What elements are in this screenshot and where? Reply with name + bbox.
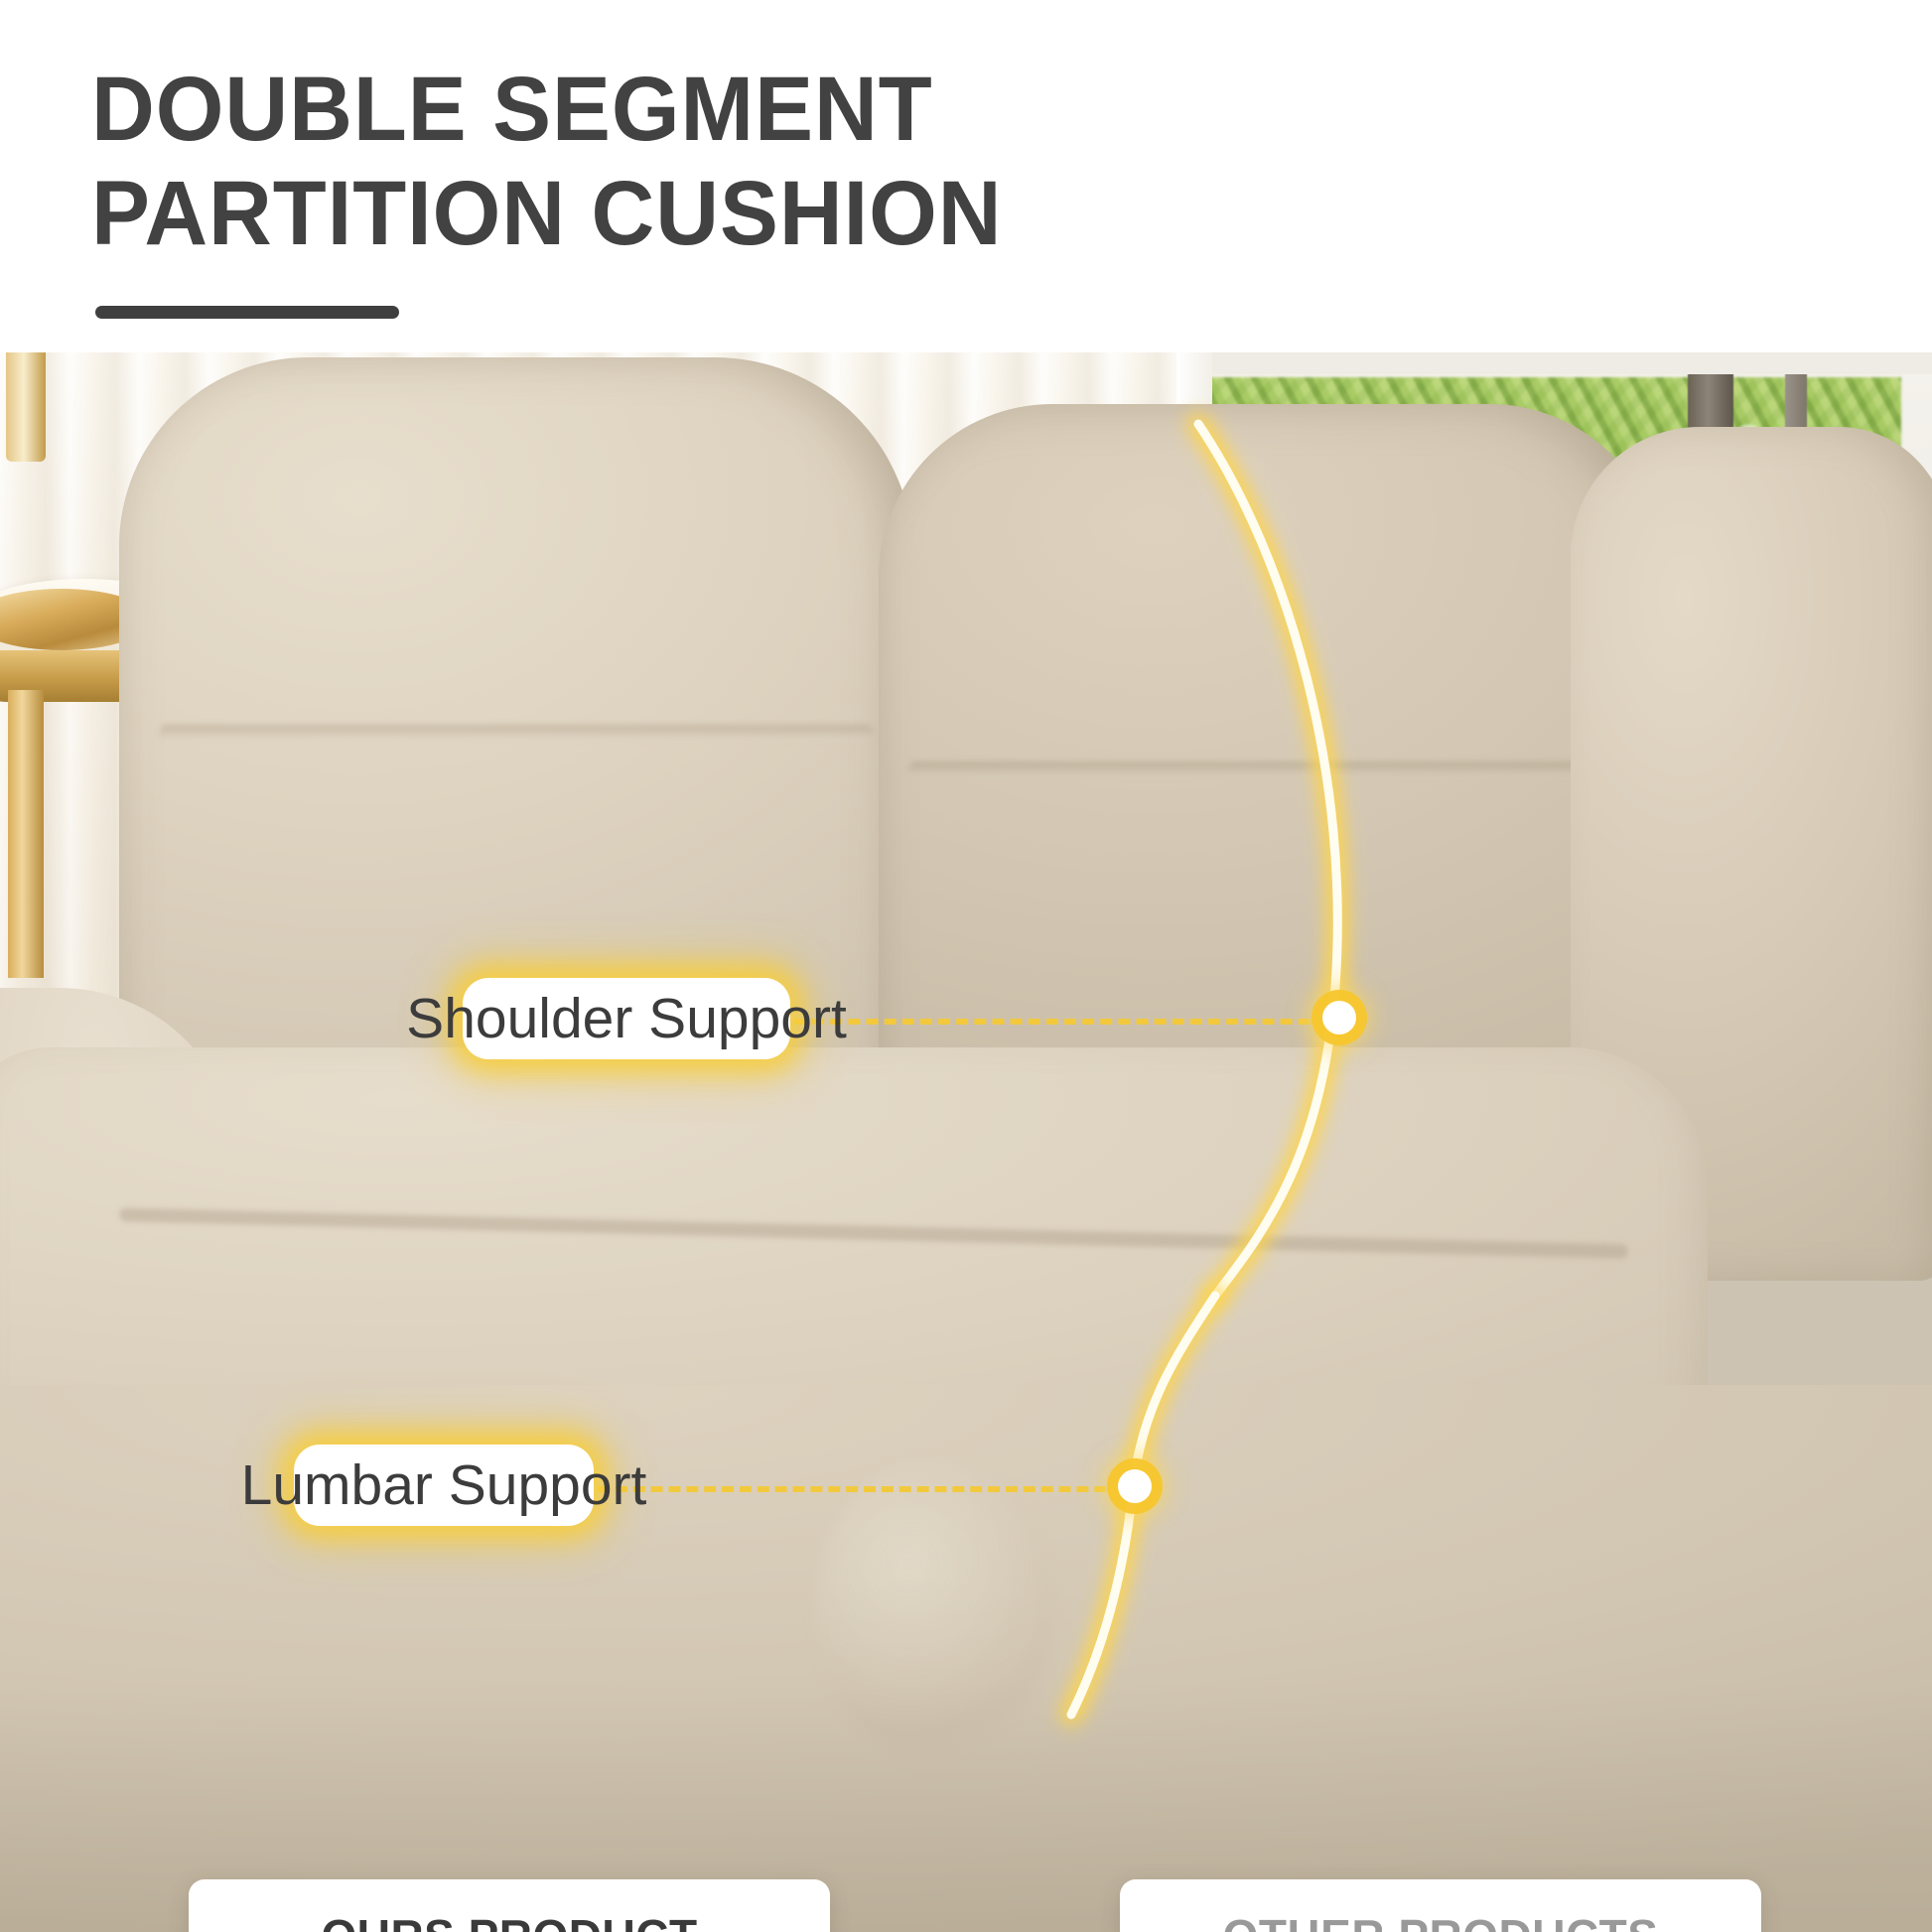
cushion-partition-seam	[159, 725, 874, 741]
callout-lumbar-label: Lumbar Support	[241, 1457, 647, 1514]
comparison-card-ours: OURS PRODUCT Full and	[189, 1879, 830, 1932]
sofa-back-cushion-right	[879, 404, 1663, 1159]
leader-line-lumbar	[598, 1486, 1142, 1492]
sofa-tufting-highlight	[814, 1459, 1052, 1757]
other-card-title: OTHER PRODUCTS	[1120, 1909, 1761, 1932]
cushion-partition-seam	[908, 761, 1623, 777]
marker-dot-shoulder	[1322, 1001, 1356, 1035]
title-line-1: DOUBLE SEGMENT	[91, 58, 1003, 162]
ours-card-title: OURS PRODUCT	[189, 1909, 830, 1932]
product-feature-page: DOUBLE SEGMENT PARTITION CUSHION	[0, 0, 1932, 1932]
callout-lumbar-support: Lumbar Support	[294, 1445, 594, 1526]
side-table-leg-front	[8, 690, 44, 978]
page-title: DOUBLE SEGMENT PARTITION CUSHION	[91, 58, 1040, 266]
header-banner: DOUBLE SEGMENT PARTITION CUSHION	[0, 0, 1932, 352]
product-photo: Shoulder Support Lumbar Support OURS PRO…	[0, 352, 1932, 1932]
callout-shoulder-support: Shoulder Support	[463, 978, 790, 1059]
comparison-card-other: OTHER PRODUCTS	[1120, 1879, 1761, 1932]
window-frame-top	[1176, 352, 1932, 374]
leader-line-shoulder	[794, 1019, 1346, 1025]
title-line-2: PARTITION CUSHION	[91, 162, 1003, 266]
floor-lamp-pole	[6, 352, 46, 462]
title-underline-rule	[95, 306, 399, 319]
callout-shoulder-label: Shoulder Support	[406, 991, 847, 1047]
marker-dot-lumbar	[1118, 1469, 1152, 1503]
